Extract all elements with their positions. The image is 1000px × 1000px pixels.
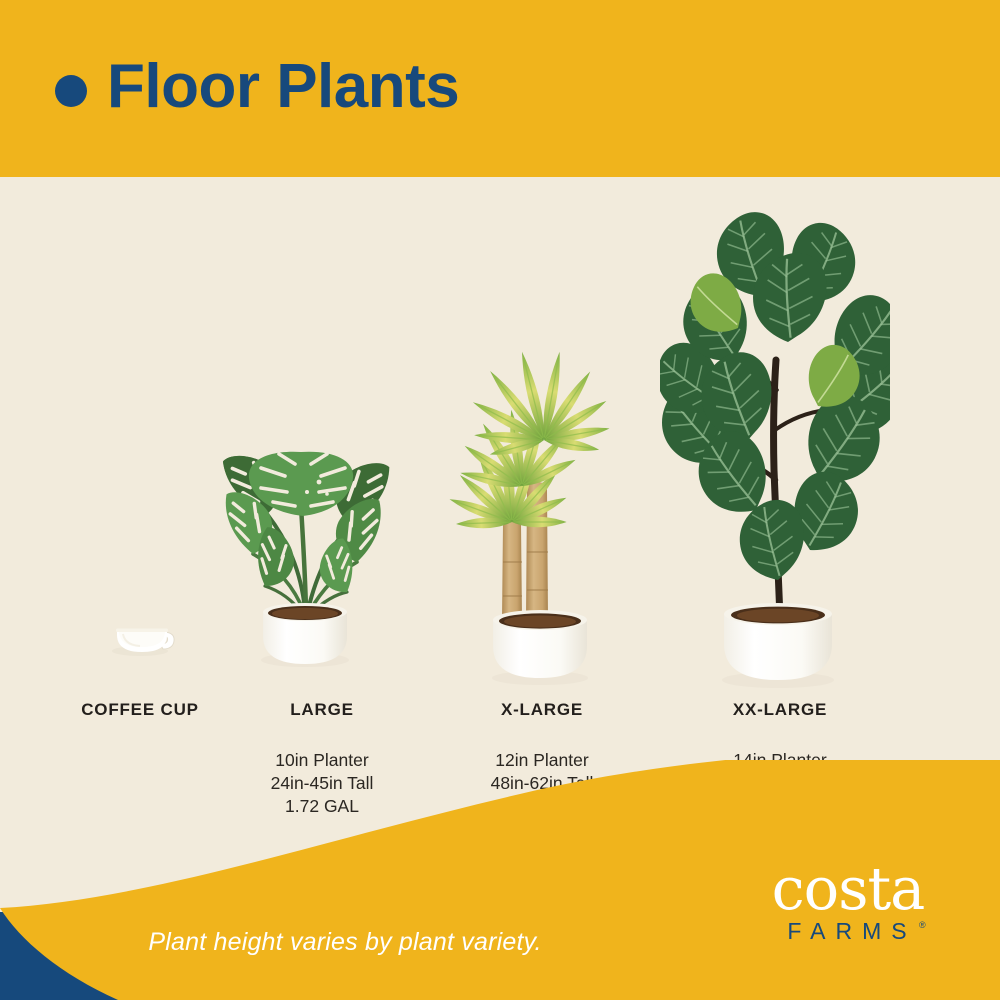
infographic-page: Floor Plants: [0, 0, 1000, 1000]
plant-pot: [492, 610, 588, 685]
costa-farms-logo: costa FARMS ®: [732, 862, 964, 945]
logo-farms-text: FARMS: [787, 918, 916, 944]
dracaena-plant-illustration: [440, 290, 640, 690]
dot-icon: [55, 75, 87, 107]
monstera-plant-illustration: [205, 420, 405, 690]
size-name-large: LARGE: [222, 700, 422, 720]
plant-pot: [722, 603, 834, 688]
header-band: Floor Plants: [0, 0, 1000, 177]
footer-note: Plant height varies by plant variety.: [0, 928, 690, 957]
size-name-xx-large: XX-LARGE: [680, 700, 880, 720]
logo-wordmark-farms: FARMS ®: [787, 918, 916, 945]
coffee-cup-icon: [112, 629, 174, 657]
size-name-x-large: X-LARGE: [442, 700, 642, 720]
logo-wordmark-costa: costa: [732, 862, 964, 916]
plant-pot: [261, 603, 349, 667]
coffee-cup-illustration: [95, 610, 195, 660]
registered-mark-icon: ®: [919, 920, 926, 930]
header-inner: Floor Plants: [55, 56, 459, 118]
column-coffee-cup: COFFEE CUP: [40, 700, 240, 749]
fiddle-leaf-fig-illustration: [660, 210, 890, 690]
size-name-coffee-cup: COFFEE CUP: [40, 700, 240, 720]
page-title: Floor Plants: [107, 56, 459, 118]
